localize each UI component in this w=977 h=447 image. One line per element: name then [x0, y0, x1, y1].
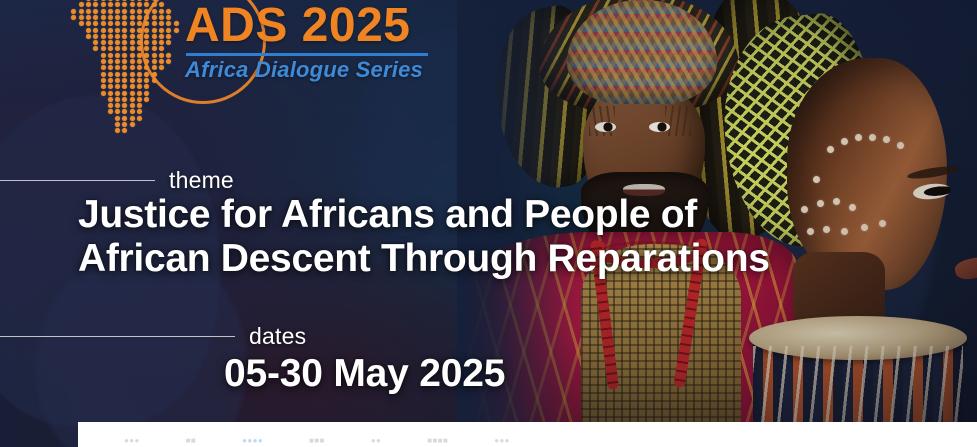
africa-dotted-map-icon [62, 0, 186, 136]
ads-2025-banner: theme Justice for Africans and People of… [0, 0, 977, 447]
partner-logos-panel: ●●● ■■ ●●●● ■■■ ●● ■■■■ ●●● [78, 422, 977, 447]
ads-logo[interactable]: ADS 2025 Africa Dialogue Series [0, 0, 440, 136]
logo-subtitle: Africa Dialogue Series [185, 57, 428, 83]
theme-title-line-1: Justice for Africans and People of [78, 193, 908, 237]
theme-rule [0, 180, 155, 181]
theme-title: Justice for Africans and People of Afric… [78, 193, 908, 281]
logo-text: ADS 2025 Africa Dialogue Series [185, 1, 428, 83]
partner-logo[interactable]: ●●●● [242, 436, 263, 445]
dates-label: dates [249, 323, 306, 350]
logo-title: ADS 2025 [185, 1, 428, 51]
partner-logo[interactable]: ■■ [186, 436, 196, 445]
theme-title-line-2: African Descent Through Reparations [78, 237, 908, 281]
logo-divider [186, 53, 428, 56]
partner-logo[interactable]: ■■■■ [427, 436, 448, 445]
dates-rule [0, 336, 235, 337]
partner-logo[interactable]: ●●● [124, 436, 140, 445]
dates-value: 05-30 May 2025 [224, 352, 505, 396]
theme-label-row: theme [0, 167, 234, 194]
dates-label-row: dates [0, 323, 306, 350]
partner-logo[interactable]: ●● [371, 436, 381, 445]
theme-label: theme [169, 167, 234, 194]
partner-logo[interactable]: ■■■ [309, 436, 325, 445]
partner-logo[interactable]: ●●● [494, 436, 510, 445]
